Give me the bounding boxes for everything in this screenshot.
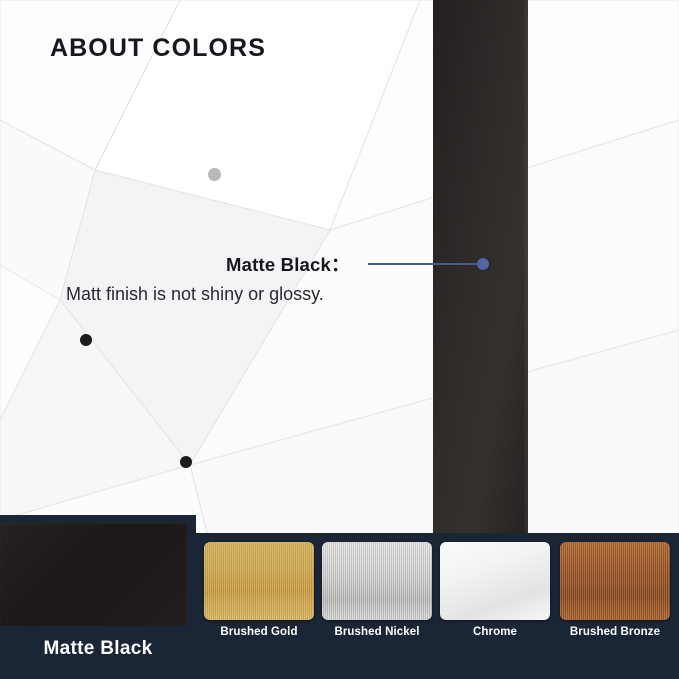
callout-label: Matte Black： bbox=[226, 251, 350, 277]
swatch-label-brushed-bronze: Brushed Bronze bbox=[560, 626, 670, 638]
decorative-dot-dark bbox=[80, 334, 92, 346]
swatch-matte-black[interactable] bbox=[0, 515, 196, 634]
swatch-chrome[interactable] bbox=[440, 542, 550, 620]
swatch-brushed-bronze[interactable] bbox=[560, 542, 670, 620]
swatch-label-brushed-gold: Brushed Gold bbox=[204, 626, 314, 638]
swatch-label-brushed-nickel: Brushed Nickel bbox=[322, 626, 432, 638]
swatch-label-matte-black: Matte Black bbox=[0, 638, 196, 660]
decorative-dot-gray bbox=[208, 168, 221, 181]
swatch-brushed-nickel[interactable] bbox=[322, 542, 432, 620]
infographic-canvas: ABOUT COLORS Matte Black： Matt finish is… bbox=[0, 0, 679, 679]
swatch-label-chrome: Chrome bbox=[440, 626, 550, 638]
swatch-chip-matte-black bbox=[0, 523, 187, 626]
callout-leader-line bbox=[368, 263, 482, 265]
decorative-dot-dark bbox=[180, 456, 192, 468]
callout-leader-dot bbox=[477, 258, 489, 270]
callout-description: Matt finish is not shiny or glossy. bbox=[66, 284, 324, 305]
swatch-brushed-gold[interactable] bbox=[204, 542, 314, 620]
page-title: ABOUT COLORS bbox=[50, 34, 266, 63]
